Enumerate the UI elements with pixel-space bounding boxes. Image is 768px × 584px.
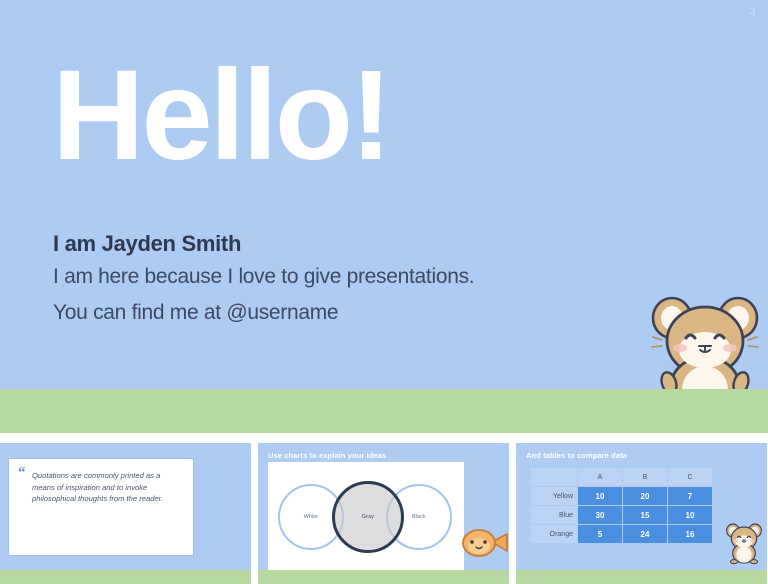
table-row: Orange 5 24 16 <box>531 525 712 543</box>
table-row-label-orange: Orange <box>531 525 577 543</box>
thumbnail-strip: “ Quotations are commonly printed as a m… <box>0 443 768 584</box>
venn-label-gray: Gray <box>335 514 401 520</box>
table-cell: 10 <box>668 506 712 524</box>
green-footer-band <box>0 389 768 433</box>
thumbnail-green-band <box>0 570 251 584</box>
mouse-character-icon <box>725 519 763 565</box>
table-cell: 5 <box>578 525 622 543</box>
table-cell: 10 <box>578 487 622 505</box>
page-title: Hello! <box>52 52 390 180</box>
intro-line-reason: I am here because I love to give present… <box>53 259 673 295</box>
venn-circle-gray: Gray <box>332 481 404 553</box>
table-row: Yellow 10 20 7 <box>531 487 712 505</box>
table-header-row: A B C <box>531 468 712 486</box>
table-corner-cell <box>531 468 577 486</box>
table-col-header-b: B <box>623 468 667 486</box>
thumbnail-chart-slide[interactable]: Use charts to explain your ideas White B… <box>258 443 509 584</box>
quote-mark-icon: “ <box>18 468 26 478</box>
fish-character-icon <box>458 523 509 561</box>
quote-text: Quotations are commonly printed as a mea… <box>32 470 184 505</box>
quote-card: “ Quotations are commonly printed as a m… <box>8 458 194 556</box>
table-cell: 15 <box>623 506 667 524</box>
table-row: Blue 30 15 10 <box>531 506 712 524</box>
comparison-table: A B C Yellow 10 20 7 Blue 30 15 10 <box>530 467 713 544</box>
thumbnail-heading-table: And tables to compare data <box>526 451 627 460</box>
table-col-header-c: C <box>668 468 712 486</box>
thumbnail-green-band <box>258 570 509 584</box>
table-cell: 24 <box>623 525 667 543</box>
thumbnail-table-slide[interactable]: And tables to compare data A B C Yellow … <box>516 443 767 584</box>
table-cell: 16 <box>668 525 712 543</box>
table-cell: 20 <box>623 487 667 505</box>
thumbnail-green-band <box>516 570 767 584</box>
intro-block: I am Jayden Smith I am here because I lo… <box>53 229 673 331</box>
presenter-name: I am Jayden Smith <box>53 229 673 259</box>
table-row-label-yellow: Yellow <box>531 487 577 505</box>
table-row-label-blue: Blue <box>531 506 577 524</box>
thumbnail-heading-chart: Use charts to explain your ideas <box>268 451 386 460</box>
presentation-deck: 3 Hello! I am Jayden Smith I am here bec… <box>0 0 768 584</box>
thumbnail-quotation-slide[interactable]: “ Quotations are commonly printed as a m… <box>0 443 251 584</box>
venn-diagram: White Black Gray <box>276 479 456 555</box>
table-cell: 7 <box>668 487 712 505</box>
table-col-header-a: A <box>578 468 622 486</box>
page-number: 3 <box>750 6 756 18</box>
table-cell: 30 <box>578 506 622 524</box>
main-slide[interactable]: 3 Hello! I am Jayden Smith I am here bec… <box>0 0 768 433</box>
intro-line-handle: You can find me at @username <box>53 295 673 331</box>
chart-card: White Black Gray <box>268 462 464 572</box>
